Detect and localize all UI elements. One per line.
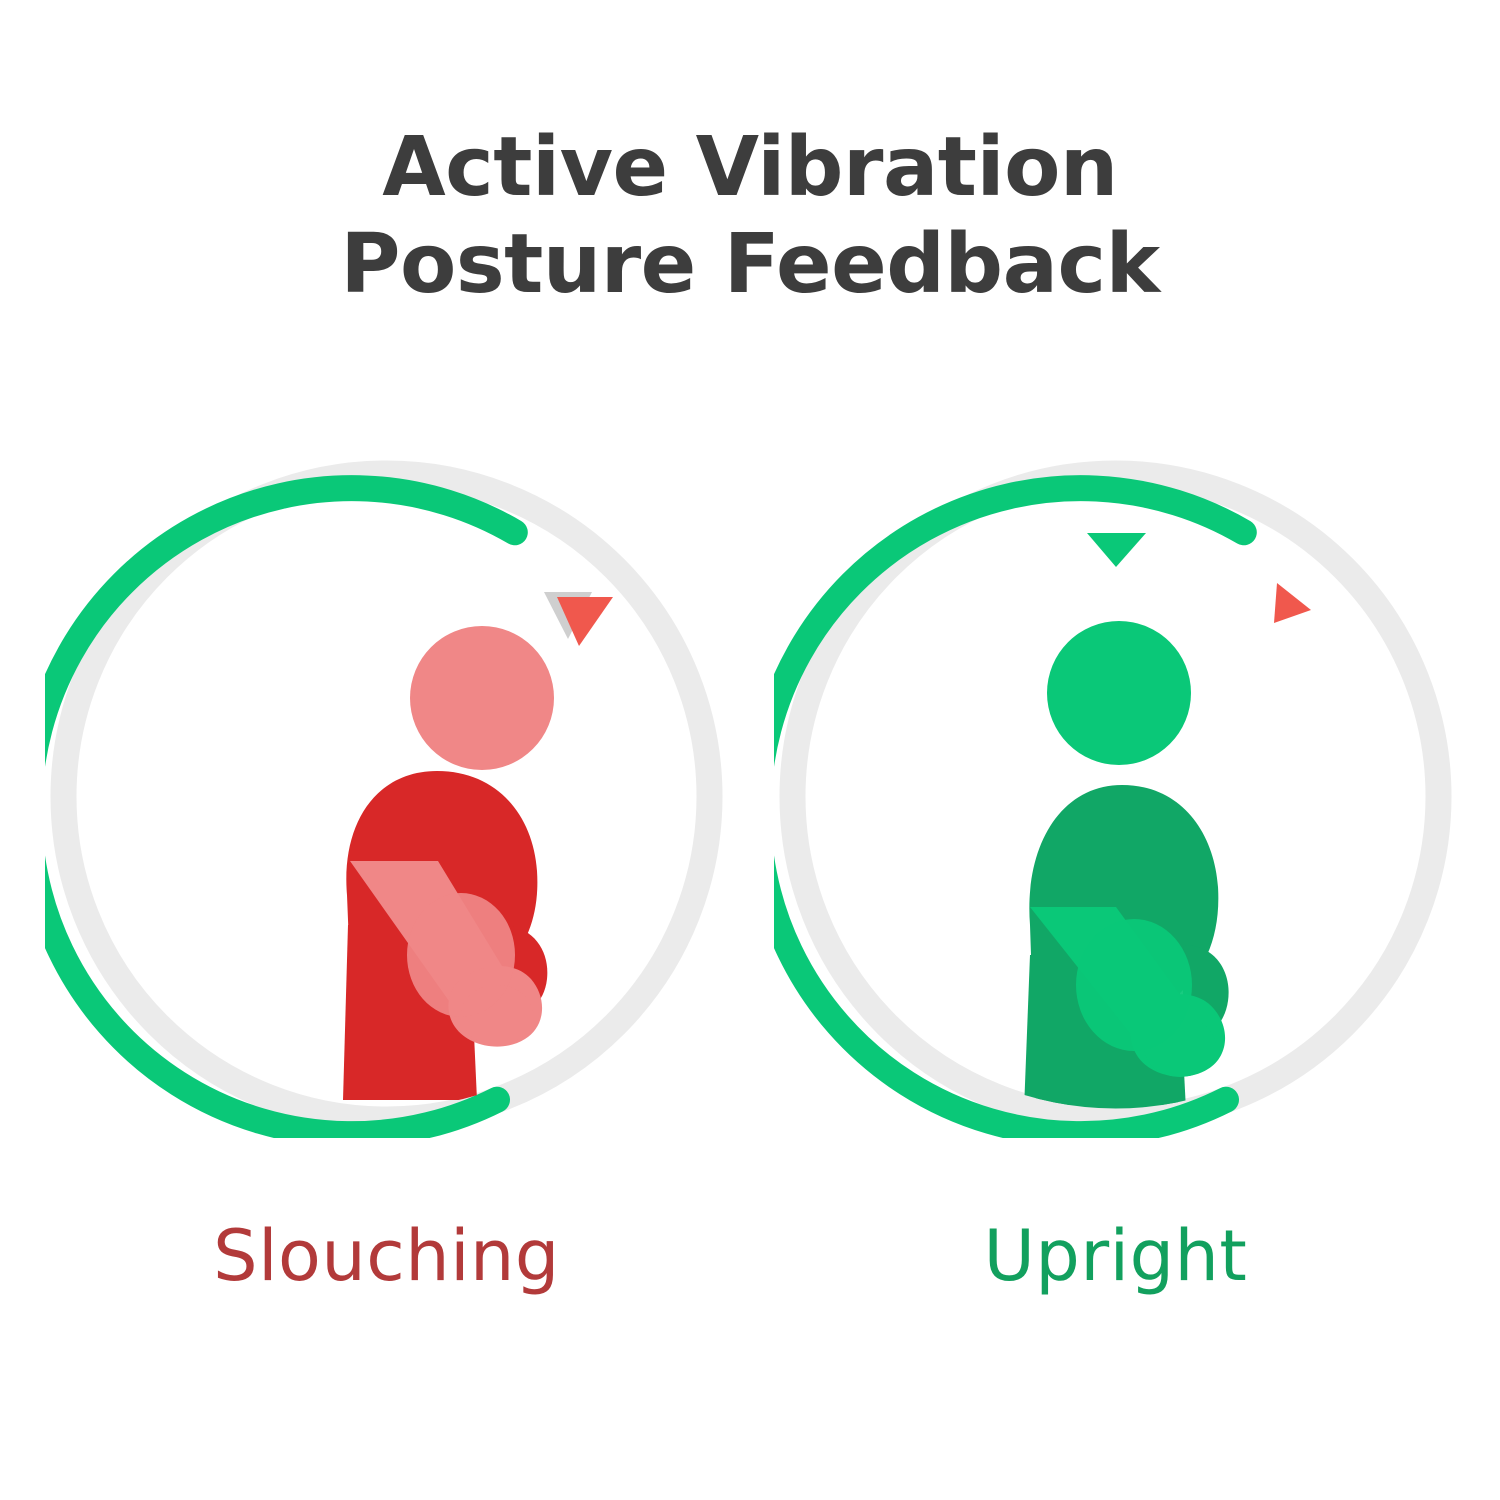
figure-head-slouching [410, 626, 554, 770]
figure-head-upright [1047, 621, 1191, 765]
illustration-canvas: Active Vibration Posture Feedback [0, 0, 1500, 1500]
figure-belly-upright [1076, 919, 1192, 1051]
caption-upright: Upright [774, 1215, 1457, 1297]
vibration-marker-red-icon [1274, 583, 1311, 623]
panel-slouching [45, 455, 728, 1138]
panel-upright [774, 455, 1457, 1138]
figure-belly-slouching [407, 893, 515, 1017]
caption-slouching: Slouching [45, 1215, 728, 1297]
posture-marker-green-icon [1087, 533, 1146, 567]
